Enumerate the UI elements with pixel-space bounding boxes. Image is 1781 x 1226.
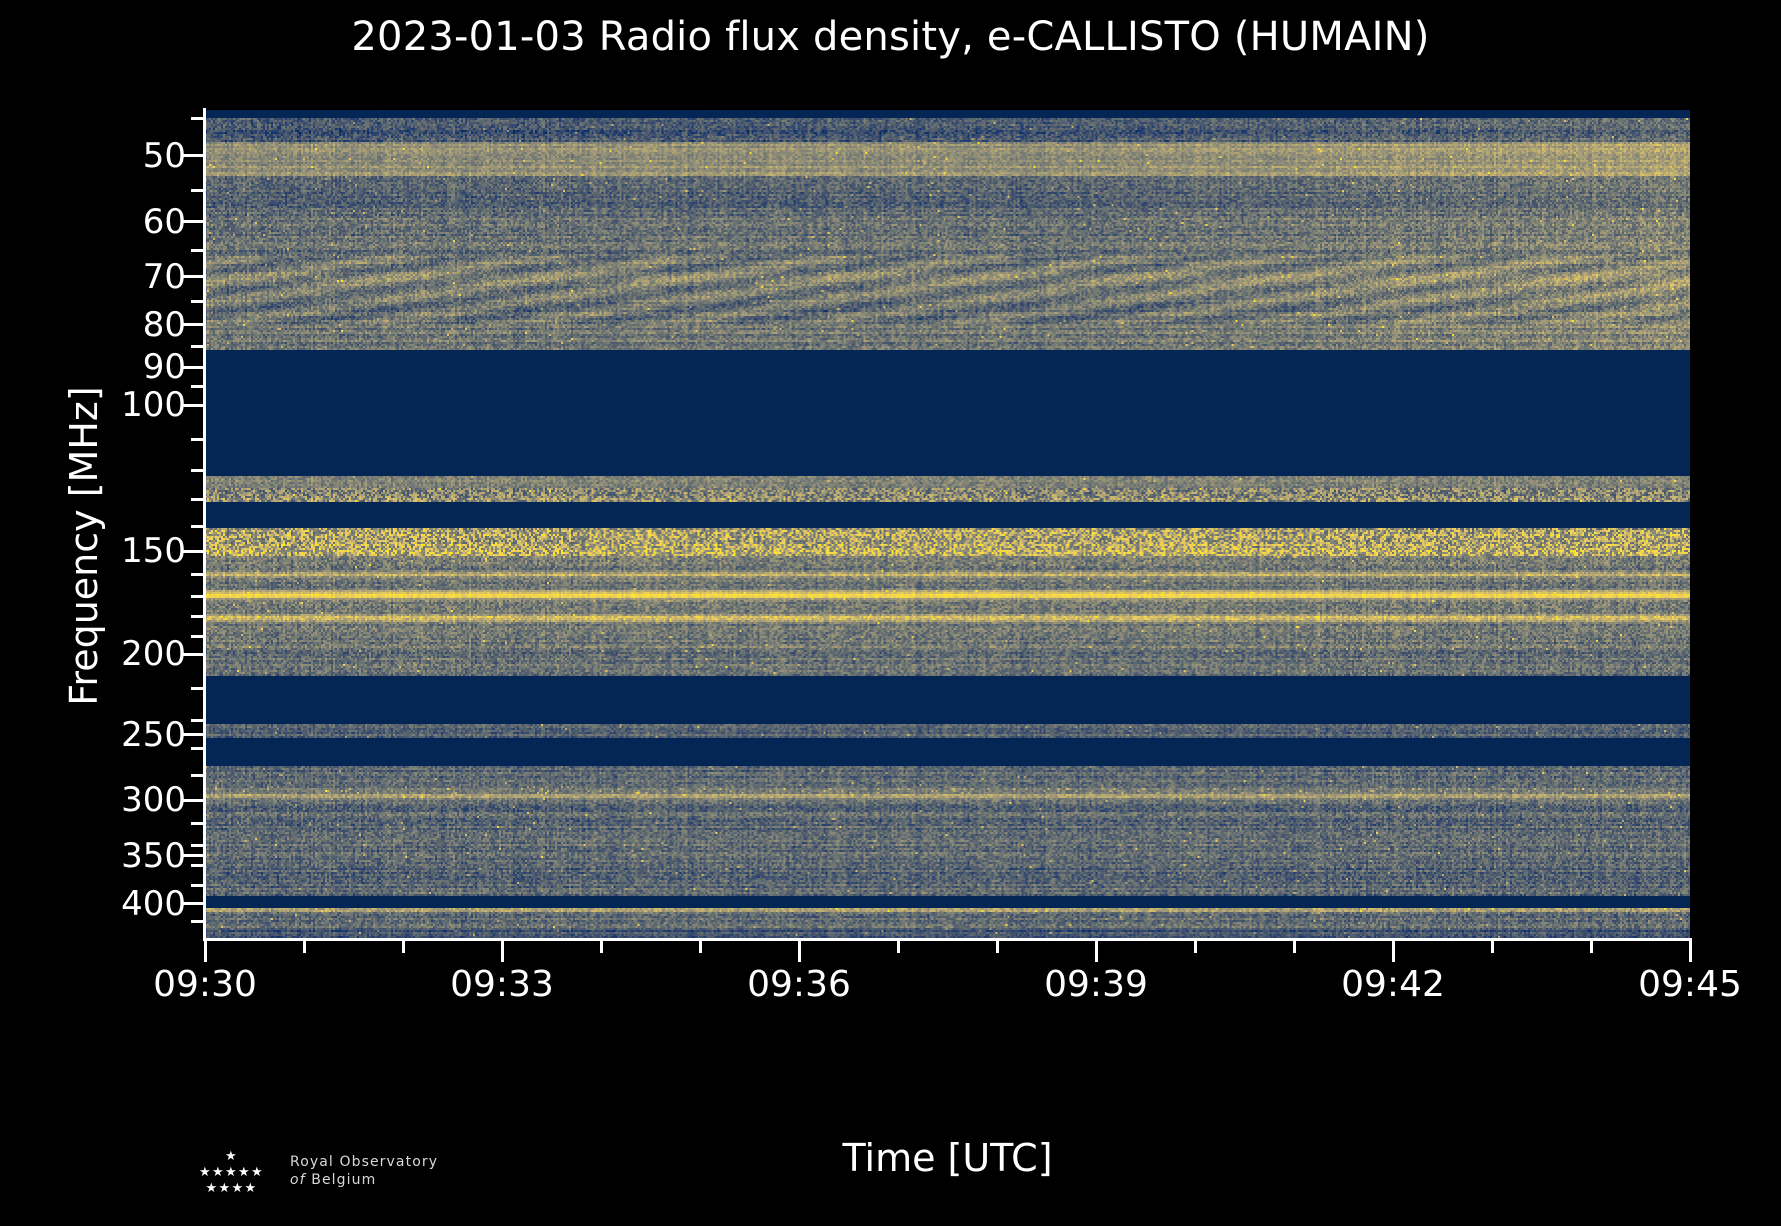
star-icon: ★ xyxy=(232,1182,244,1195)
y-minor-tick xyxy=(191,345,204,348)
star-icon: ★ xyxy=(245,1182,257,1195)
logo-of-word: of xyxy=(290,1172,306,1188)
logo-line-2: of Belgium xyxy=(290,1172,438,1190)
y-minor-tick xyxy=(191,719,204,722)
figure-root: 2023-01-03 Radio flux density, e-CALLIST… xyxy=(0,0,1781,1226)
y-tick-400 xyxy=(183,902,204,905)
y-minor-tick xyxy=(191,615,204,618)
star-icon: ★ xyxy=(238,1166,250,1179)
x-minor-tick xyxy=(600,940,603,953)
y-minor-tick xyxy=(191,822,204,825)
y-minor-tick xyxy=(191,635,204,638)
star-icon: ★ xyxy=(199,1166,211,1179)
y-minor-tick xyxy=(191,920,204,923)
x-tick-label-09-42: 09:42 xyxy=(1341,964,1445,1005)
y-tick-label-60: 60 xyxy=(143,202,186,242)
logo-belgium-word: Belgium xyxy=(311,1172,376,1188)
y-minor-tick xyxy=(191,864,204,867)
x-tick-09-45 xyxy=(1689,940,1692,962)
x-minor-tick xyxy=(1194,940,1197,953)
y-tick-label-150: 150 xyxy=(121,531,186,571)
y-tick-label-200: 200 xyxy=(121,634,186,674)
y-tick-80 xyxy=(183,323,204,326)
x-tick-09-36 xyxy=(798,940,801,962)
star-icon: ★ xyxy=(206,1182,218,1195)
y-minor-tick xyxy=(191,844,204,847)
y-minor-tick xyxy=(191,573,204,576)
y-minor-tick xyxy=(191,498,204,501)
y-tick-60 xyxy=(183,220,204,223)
x-tick-label-09-45: 09:45 xyxy=(1638,964,1742,1005)
y-minor-tick xyxy=(191,385,204,388)
x-tick-label-09-33: 09:33 xyxy=(450,964,554,1005)
x-minor-tick xyxy=(1293,940,1296,953)
page-title: 2023-01-03 Radio flux density, e-CALLIST… xyxy=(0,14,1781,60)
x-axis-spine xyxy=(203,938,1692,941)
y-tick-label-300: 300 xyxy=(121,780,186,820)
y-tick-label-100: 100 xyxy=(121,385,186,425)
star-icon: ★ xyxy=(219,1182,231,1195)
x-tick-label-09-30: 09:30 xyxy=(153,964,257,1005)
y-minor-tick xyxy=(191,469,204,472)
y-tick-label-80: 80 xyxy=(143,305,186,345)
logo-text: Royal Observatory of Belgium xyxy=(290,1154,438,1190)
y-tick-label-350: 350 xyxy=(121,836,186,876)
y-tick-350 xyxy=(183,854,204,857)
x-minor-tick xyxy=(1590,940,1593,953)
y-minor-tick xyxy=(191,249,204,252)
star-icon: ★ xyxy=(212,1166,224,1179)
y-minor-tick xyxy=(191,300,204,303)
star-icon: ★ xyxy=(225,1150,237,1163)
y-minor-tick xyxy=(191,525,204,528)
x-minor-tick xyxy=(897,940,900,953)
x-minor-tick xyxy=(402,940,405,953)
y-tick-100 xyxy=(183,404,204,407)
y-tick-label-400: 400 xyxy=(121,884,186,924)
x-minor-tick xyxy=(699,940,702,953)
y-minor-tick xyxy=(191,747,204,750)
spectrogram-plot xyxy=(205,110,1690,938)
spectrogram-canvas xyxy=(205,110,1690,938)
y-tick-150 xyxy=(183,550,204,553)
y-tick-90 xyxy=(183,366,204,369)
y-minor-tick xyxy=(191,774,204,777)
x-minor-tick xyxy=(1491,940,1494,953)
x-minor-tick xyxy=(303,940,306,953)
logo-line-1: Royal Observatory xyxy=(290,1154,438,1172)
x-tick-09-42 xyxy=(1392,940,1395,962)
y-tick-label-90: 90 xyxy=(143,347,186,387)
y-tick-250 xyxy=(183,733,204,736)
royal-observatory-logo: ★★★★★★★★★★ Royal Observatory of Belgium xyxy=(196,1144,438,1200)
y-minor-tick xyxy=(191,595,204,598)
y-tick-50 xyxy=(183,154,204,157)
stars-icon: ★★★★★★★★★★ xyxy=(196,1144,276,1200)
star-icon: ★ xyxy=(251,1166,263,1179)
x-tick-09-30 xyxy=(204,940,207,962)
y-minor-tick xyxy=(191,117,204,120)
star-icon: ★ xyxy=(225,1166,237,1179)
y-axis-label: Frequency [MHz] xyxy=(62,286,106,806)
y-tick-200 xyxy=(183,653,204,656)
y-minor-tick xyxy=(191,189,204,192)
x-tick-label-09-36: 09:36 xyxy=(747,964,851,1005)
y-tick-label-50: 50 xyxy=(143,136,186,176)
y-tick-70 xyxy=(183,275,204,278)
y-tick-label-250: 250 xyxy=(121,715,186,755)
x-tick-label-09-39: 09:39 xyxy=(1044,964,1148,1005)
x-tick-09-33 xyxy=(501,940,504,962)
y-minor-tick xyxy=(191,884,204,887)
x-minor-tick xyxy=(996,940,999,953)
x-tick-09-39 xyxy=(1095,940,1098,962)
y-tick-300 xyxy=(183,799,204,802)
y-minor-tick xyxy=(191,438,204,441)
y-tick-label-70: 70 xyxy=(143,257,186,297)
y-minor-tick xyxy=(191,687,204,690)
